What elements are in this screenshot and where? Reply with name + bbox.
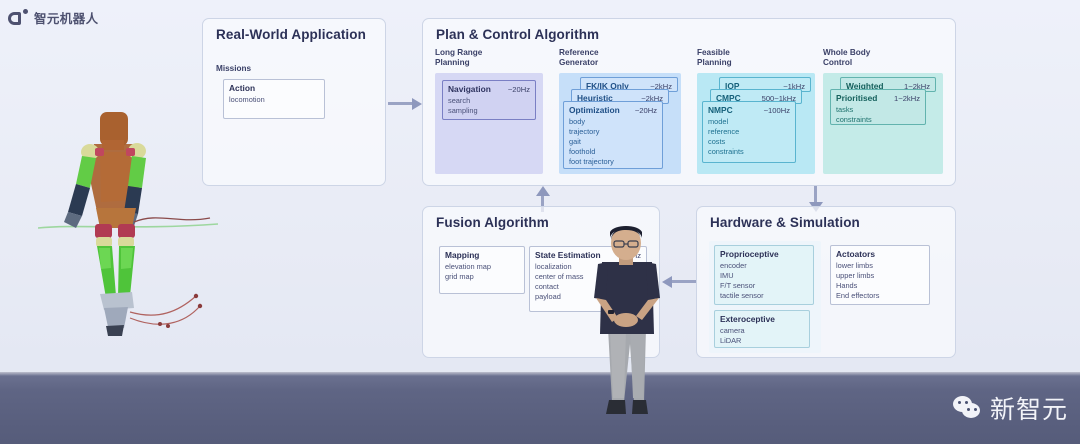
card-exteroceptive-title: Exteroceptive: [720, 314, 775, 324]
card-navigation-lines: search sampling: [448, 96, 530, 116]
card-action-title: Action: [229, 83, 255, 93]
card-actoators: Actoators lower limbs upper limbs Hands …: [830, 245, 930, 305]
card-navigation: Navigation ~20Hz search sampling: [442, 80, 536, 120]
card-nmpc-freq: ~100Hz: [764, 106, 790, 115]
card-proprioceptive-title: Proprioceptive: [720, 249, 779, 259]
panel-title-plan-control: Plan & Control Algorithm: [436, 27, 599, 42]
column-label-reference-generator: Reference Generator: [559, 48, 599, 68]
card-navigation-title: Navigation: [448, 84, 491, 94]
panel-title-real-world: Real-World Application: [216, 27, 366, 42]
card-mapping: Mapping elevation map grid map: [439, 246, 525, 294]
card-actoators-lines: lower limbs upper limbs Hands End effect…: [836, 261, 924, 301]
stage-floor: [0, 372, 1080, 444]
card-exteroceptive-lines: camera LiDAR: [720, 326, 804, 346]
card-optimization: Optimization ~20Hz body trajectory gait …: [563, 101, 663, 169]
section-label-missions: Missions: [216, 64, 251, 74]
card-nmpc-title: NMPC: [708, 105, 733, 115]
card-navigation-freq: ~20Hz: [508, 85, 530, 94]
watermark-text: 新智元: [990, 390, 1068, 426]
column-label-feasible-planning: Feasible Planning: [697, 48, 732, 68]
card-nmpc: NMPC ~100Hz model reference costs constr…: [702, 101, 796, 163]
card-prioritised-freq: 1~2kHz: [894, 94, 920, 103]
card-mapping-lines: elevation map grid map: [445, 262, 519, 282]
column-label-long-range-planning: Long Range Planning: [435, 48, 482, 68]
panel-hardware-simulation: Hardware & Simulation Proprioceptive enc…: [696, 206, 956, 358]
panel-title-hardware: Hardware & Simulation: [710, 215, 860, 230]
card-optimization-freq: ~20Hz: [635, 106, 657, 115]
wechat-icon: [953, 396, 983, 421]
column-label-whole-body-control: Whole Body Control: [823, 48, 870, 68]
panel-plan-control-algorithm: Plan & Control Algorithm Long Range Plan…: [422, 18, 956, 186]
panel-title-fusion: Fusion Algorithm: [436, 215, 549, 230]
wechat-watermark: 新智元: [953, 390, 1068, 426]
card-action-lines: locomotion: [229, 95, 319, 105]
card-proprioceptive-lines: encoder IMU F/T sensor tactile sensor: [720, 261, 808, 301]
card-action: Action locomotion: [223, 79, 325, 119]
card-prioritised-title: Prioritised: [836, 93, 877, 103]
card-actoators-title: Actoators: [836, 249, 875, 259]
panel-real-world-application: Real-World Application Missions Action l…: [202, 18, 386, 186]
card-prioritised: Prioritised 1~2kHz tasks constraints: [830, 89, 926, 125]
card-prioritised-lines: tasks constraints: [836, 105, 920, 125]
slide-diagram: Real-World Application Missions Action l…: [0, 0, 1080, 380]
card-nmpc-lines: model reference costs constraints: [708, 117, 790, 157]
card-optimization-lines: body trajectory gait foothold foot traje…: [569, 117, 657, 167]
card-mapping-title: Mapping: [445, 250, 479, 260]
card-proprioceptive: Proprioceptive encoder IMU F/T sensor ta…: [714, 245, 814, 305]
arrow-realworld-to-plan: [388, 98, 422, 110]
presenter-person: [578, 222, 676, 434]
card-exteroceptive: Exteroceptive camera LiDAR: [714, 310, 810, 348]
card-optimization-title: Optimization: [569, 105, 620, 115]
